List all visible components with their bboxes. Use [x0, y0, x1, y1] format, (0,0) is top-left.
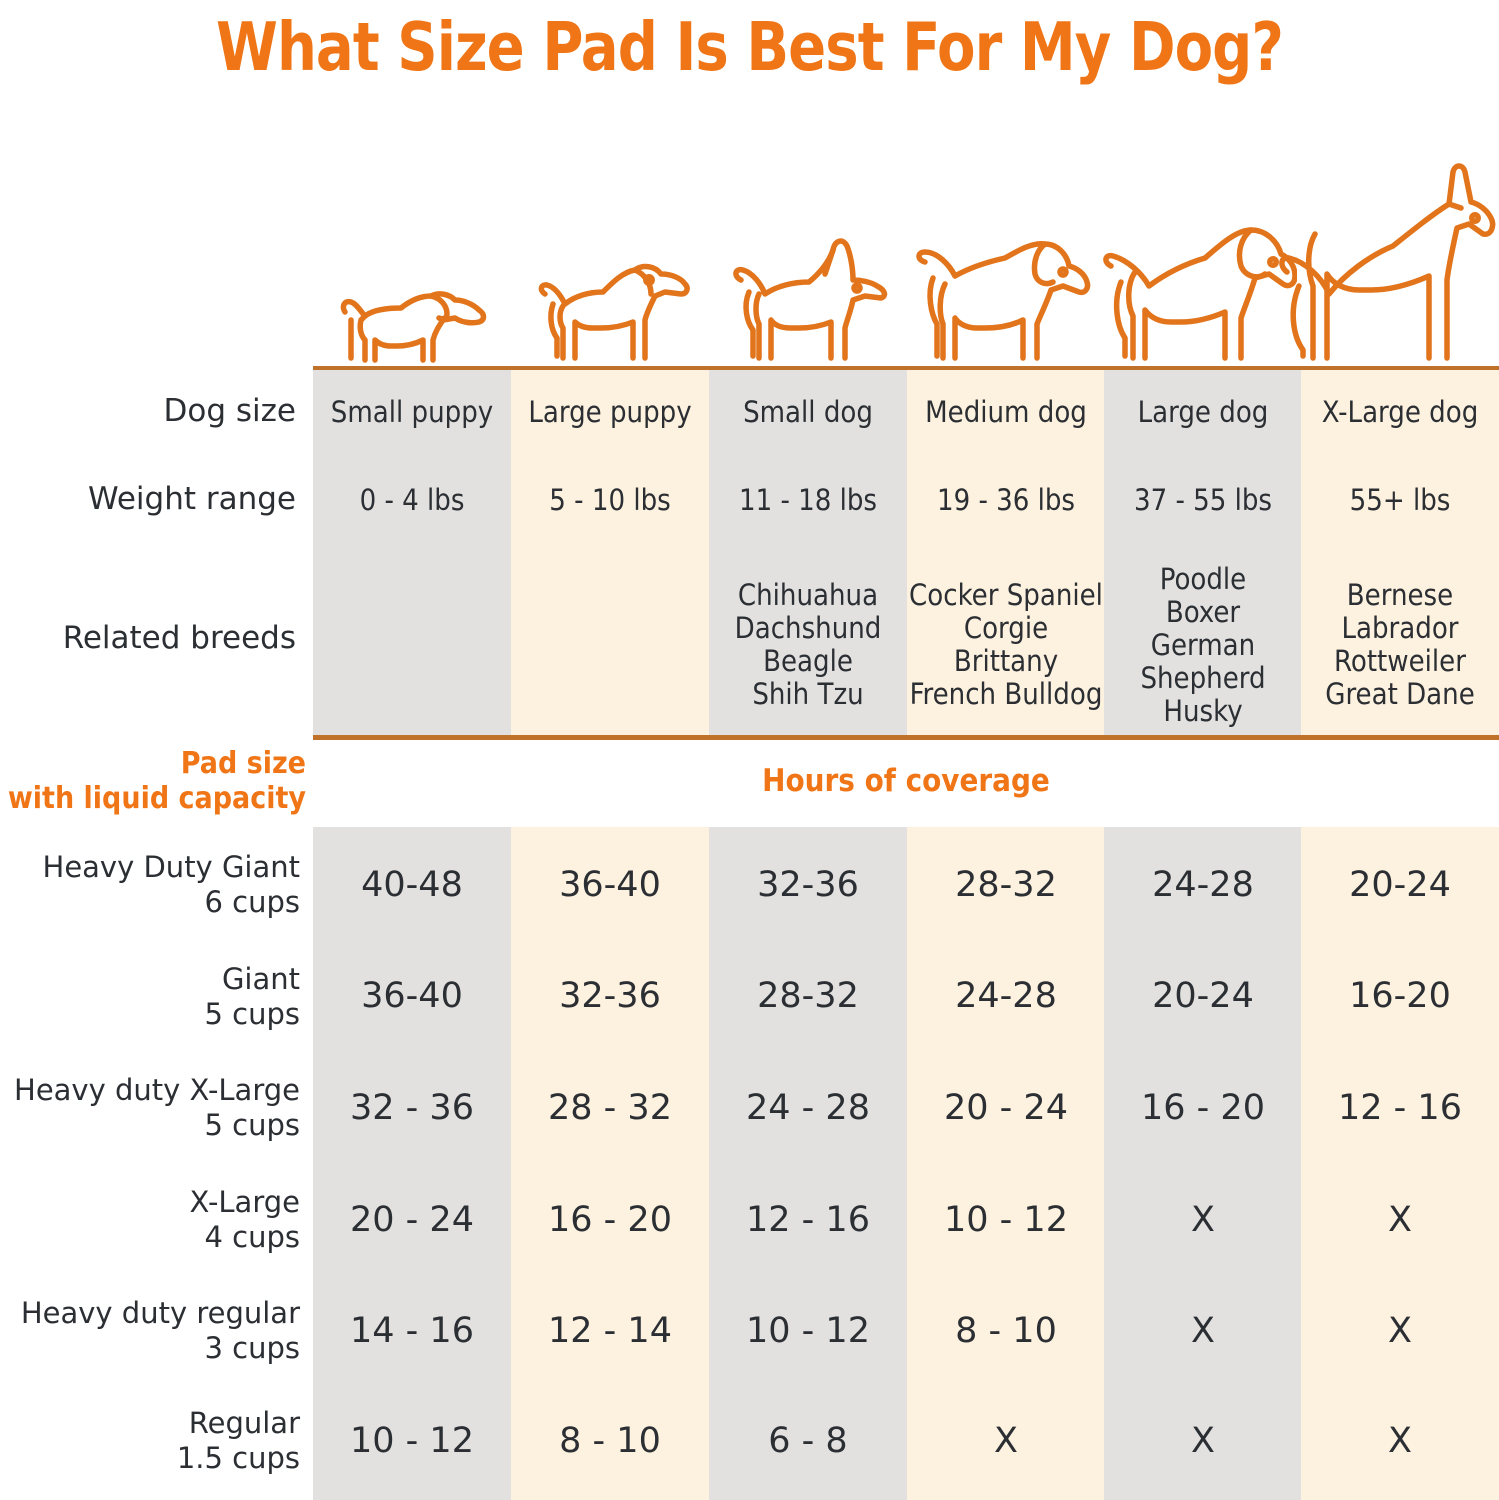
coverage-cell-r6-c3: 6 - 8 — [709, 1421, 907, 1461]
coverage-cell-r5-c6: X — [1301, 1311, 1499, 1351]
pad-capacity: 4 cups — [0, 1220, 300, 1255]
small-puppy-icon — [335, 270, 490, 368]
related-breeds-cell-c3: ChihuahuaDachshundBeagleShih Tzu — [709, 579, 907, 711]
breed-line: Cocker Spaniel — [907, 579, 1105, 612]
coverage-cell-r4-c2: 16 - 20 — [511, 1200, 709, 1240]
breed-line: Rottweiler — [1301, 645, 1499, 678]
breed-line: Boxer — [1104, 596, 1302, 629]
breed-line: Great Dane — [1301, 678, 1499, 711]
coverage-cell-r3-c2: 28 - 32 — [511, 1088, 709, 1128]
coverage-cell-r3-c3: 24 - 28 — [709, 1088, 907, 1128]
pad-capacity: 5 cups — [0, 997, 300, 1032]
pad-name: Heavy duty X-Large — [0, 1073, 300, 1108]
upper-row-label-1: Dog size — [0, 395, 296, 428]
coverage-cell-r5-c2: 12 - 14 — [511, 1311, 709, 1351]
coverage-cell-r4-c5: X — [1104, 1200, 1302, 1240]
coverage-cell-r2-c2: 32-36 — [511, 976, 709, 1016]
xlarge-dog-icon — [1273, 160, 1499, 368]
pad-row-label-3: Heavy duty X-Large5 cups — [0, 1073, 300, 1144]
coverage-cell-r6-c1: 10 - 12 — [313, 1421, 511, 1461]
coverage-cell-r2-c5: 20-24 — [1104, 976, 1302, 1016]
lower-band-col-2 — [511, 827, 709, 1500]
pad-name: X-Large — [0, 1185, 300, 1220]
related-breeds-cell-c5: PoodleBoxerGermanShepherdHusky — [1104, 563, 1302, 728]
coverage-cell-r4-c4: 10 - 12 — [907, 1200, 1105, 1240]
related-breeds-cell-c4: Cocker SpanielCorgieBrittanyFrench Bulld… — [907, 579, 1105, 711]
breed-line: Poodle — [1104, 563, 1302, 596]
weight-range-cell-c4: 19 - 36 lbs — [907, 484, 1105, 516]
pad-capacity: 3 cups — [0, 1331, 300, 1366]
breed-line: Labrador — [1301, 612, 1499, 645]
upper-row-label-3: Related breeds — [0, 622, 296, 655]
coverage-cell-r3-c6: 12 - 16 — [1301, 1088, 1499, 1128]
page-title: What Size Pad Is Best For My Dog? — [52, 8, 1446, 86]
large-puppy-icon — [531, 256, 691, 368]
pad-capacity: 1.5 cups — [0, 1441, 300, 1476]
coverage-cell-r2-c4: 24-28 — [907, 976, 1105, 1016]
coverage-cell-r1-c5: 24-28 — [1104, 865, 1302, 905]
coverage-cell-r1-c1: 40-48 — [313, 865, 511, 905]
pad-row-label-6: Regular1.5 cups — [0, 1406, 300, 1477]
pad-row-label-5: Heavy duty regular3 cups — [0, 1296, 300, 1367]
coverage-cell-r3-c5: 16 - 20 — [1104, 1088, 1302, 1128]
pad-row-label-4: X-Large4 cups — [0, 1185, 300, 1256]
breed-line: Shepherd — [1104, 662, 1302, 695]
lower-band-col-1 — [313, 827, 511, 1500]
breed-line: German — [1104, 629, 1302, 662]
breed-line: Brittany — [907, 645, 1105, 678]
small-dog-icon — [725, 232, 895, 368]
lower-band-col-5 — [1104, 827, 1302, 1500]
weight-range-cell-c1: 0 - 4 lbs — [313, 484, 511, 516]
coverage-cell-r3-c4: 20 - 24 — [907, 1088, 1105, 1128]
lower-band-col-4 — [907, 827, 1105, 1500]
pad-size-header-line-2: with liquid capacity — [0, 782, 306, 817]
lower-band-col-6 — [1301, 827, 1499, 1500]
weight-range-cell-c3: 11 - 18 lbs — [709, 484, 907, 516]
dog-size-cell-c6: X-Large dog — [1301, 396, 1499, 428]
coverage-cell-r6-c5: X — [1104, 1421, 1302, 1461]
breed-line: Beagle — [709, 645, 907, 678]
breed-line: Dachshund — [709, 612, 907, 645]
coverage-cell-r2-c3: 28-32 — [709, 976, 907, 1016]
weight-range-cell-c2: 5 - 10 lbs — [511, 484, 709, 516]
coverage-cell-r1-c6: 20-24 — [1301, 865, 1499, 905]
coverage-cell-r2-c1: 36-40 — [313, 976, 511, 1016]
coverage-cell-r1-c4: 28-32 — [907, 865, 1105, 905]
lower-band-col-3 — [709, 827, 907, 1500]
pad-name: Giant — [0, 962, 300, 997]
coverage-cell-r5-c1: 14 - 16 — [313, 1311, 511, 1351]
weight-range-cell-c5: 37 - 55 lbs — [1104, 484, 1302, 516]
coverage-cell-r3-c1: 32 - 36 — [313, 1088, 511, 1128]
coverage-cell-r5-c4: 8 - 10 — [907, 1311, 1105, 1351]
breed-line: Corgie — [907, 612, 1105, 645]
coverage-cell-r5-c5: X — [1104, 1311, 1302, 1351]
coverage-cell-r6-c4: X — [907, 1421, 1105, 1461]
pad-row-label-1: Heavy Duty Giant6 cups — [0, 850, 300, 921]
pad-row-label-2: Giant5 cups — [0, 962, 300, 1033]
dog-size-cell-c4: Medium dog — [907, 396, 1105, 428]
pad-name: Heavy Duty Giant — [0, 850, 300, 885]
pad-name: Regular — [0, 1406, 300, 1441]
pad-size-header: Pad sizewith liquid capacity — [0, 747, 306, 817]
related-breeds-cell-c6: BerneseLabradorRottweilerGreat Dane — [1301, 579, 1499, 711]
weight-range-cell-c6: 55+ lbs — [1301, 484, 1499, 516]
coverage-cell-r6-c6: X — [1301, 1421, 1499, 1461]
breed-line: French Bulldog — [907, 678, 1105, 711]
coverage-cell-r2-c6: 16-20 — [1301, 976, 1499, 1016]
upper-row-label-2: Weight range — [0, 483, 296, 516]
breed-line: Husky — [1104, 695, 1302, 728]
breed-line: Shih Tzu — [709, 678, 907, 711]
pad-size-header-line-1: Pad size — [0, 747, 306, 782]
coverage-cell-r4-c3: 12 - 16 — [709, 1200, 907, 1240]
coverage-cell-r1-c3: 32-36 — [709, 865, 907, 905]
dog-size-cell-c5: Large dog — [1104, 396, 1302, 428]
section-divider — [313, 735, 1499, 740]
pad-name: Heavy duty regular — [0, 1296, 300, 1331]
medium-dog-icon — [911, 228, 1091, 368]
coverage-cell-r4-c6: X — [1301, 1200, 1499, 1240]
breed-line: Chihuahua — [709, 579, 907, 612]
pad-capacity: 5 cups — [0, 1108, 300, 1143]
pad-capacity: 6 cups — [0, 885, 300, 920]
coverage-cell-r1-c2: 36-40 — [511, 865, 709, 905]
large-dog-icon — [1099, 208, 1297, 368]
dog-size-cell-c3: Small dog — [709, 396, 907, 428]
coverage-cell-r6-c2: 8 - 10 — [511, 1421, 709, 1461]
dog-silhouette-strip — [313, 150, 1499, 368]
coverage-cell-r5-c3: 10 - 12 — [709, 1311, 907, 1351]
dog-size-cell-c1: Small puppy — [313, 396, 511, 428]
hours-of-coverage-header: Hours of coverage — [313, 763, 1499, 799]
breed-line: Bernese — [1301, 579, 1499, 612]
dog-ground-rule — [313, 366, 1499, 370]
coverage-cell-r4-c1: 20 - 24 — [313, 1200, 511, 1240]
dog-size-cell-c2: Large puppy — [511, 396, 709, 428]
